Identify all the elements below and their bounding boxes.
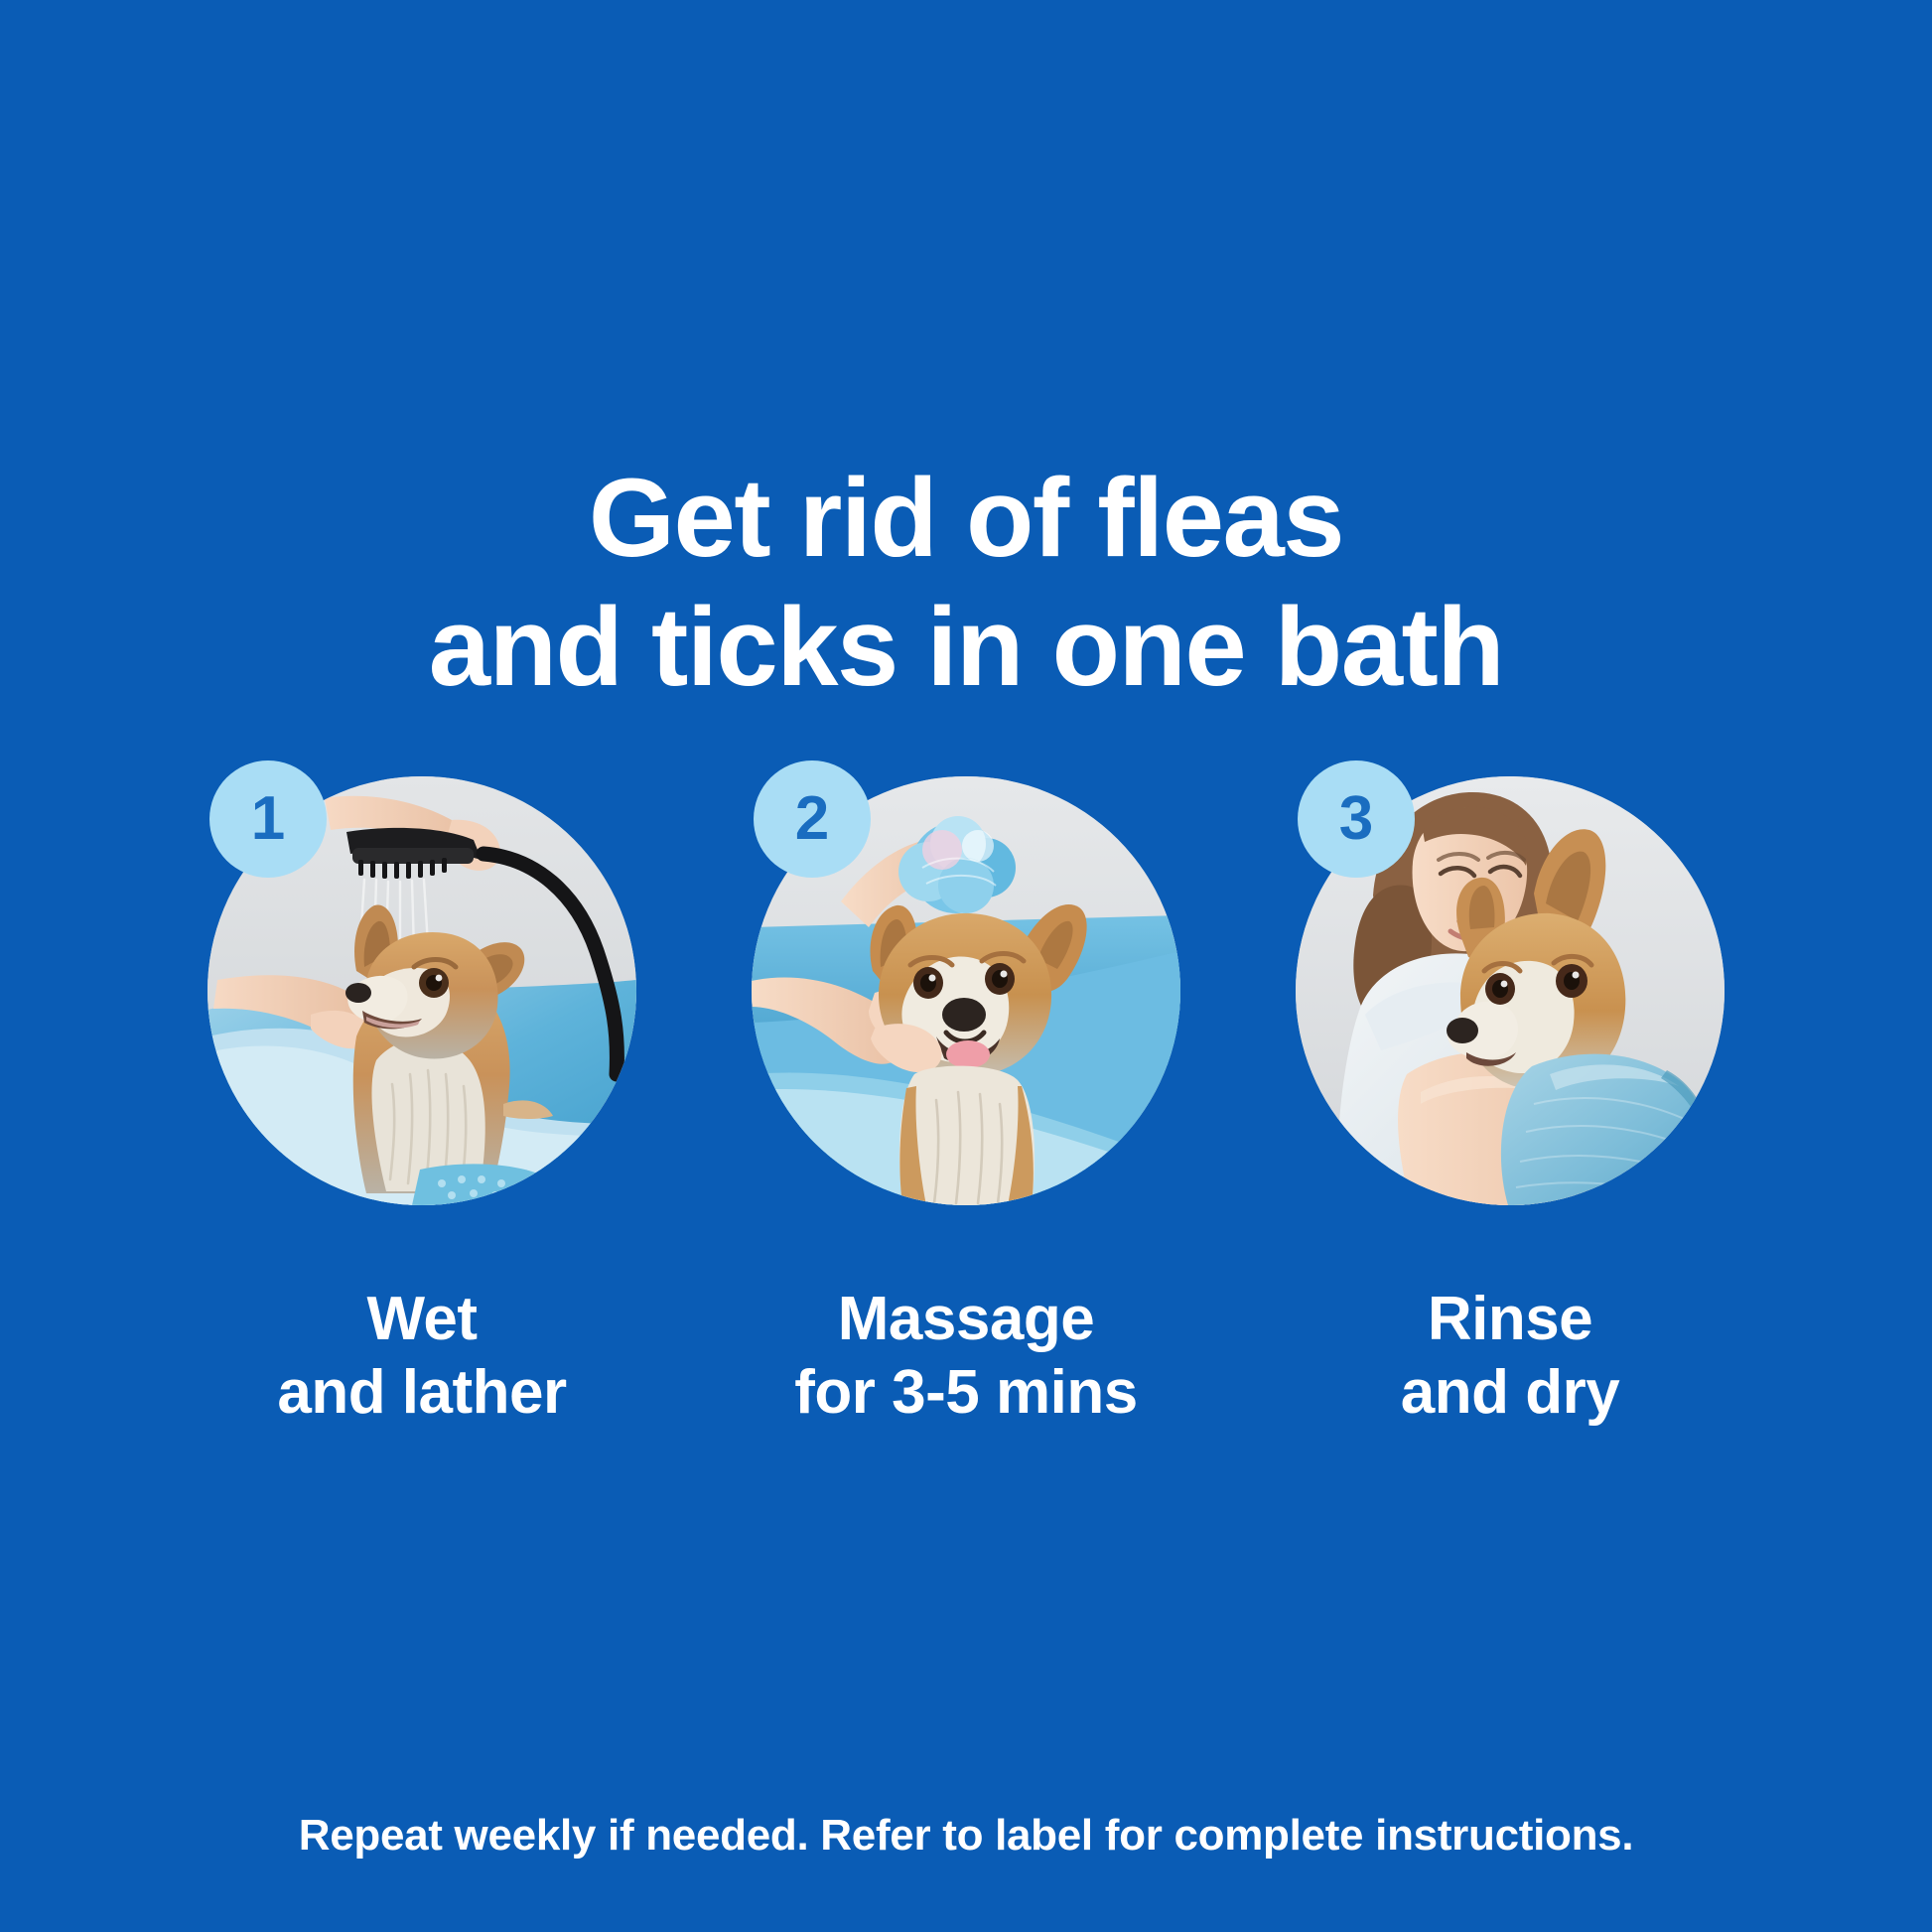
footnote-text: Repeat weekly if needed. Refer to label … [0,1811,1932,1861]
step-3-photo-wrap: 3 [1296,776,1725,1205]
step-2-photo-wrap: 2 [752,776,1180,1205]
step-1-photo-wrap: 1 [207,776,636,1205]
steps-row: 1 Wet and lather [0,776,1932,1431]
step-3: 3 Rinse and dry [1296,776,1725,1431]
step-3-caption: Rinse and dry [1401,1283,1619,1431]
step-1-caption: Wet and lather [277,1283,566,1431]
page-title: Get rid of fleas and ticks in one bath [0,454,1932,712]
step-3-number-badge: 3 [1298,760,1415,878]
step-2: 2 Massage for 3-5 mins [752,776,1180,1431]
poster-root: Get rid of fleas and ticks in one bath [0,0,1932,1932]
step-2-number-badge: 2 [754,760,871,878]
step-2-caption: Massage for 3-5 mins [794,1283,1137,1431]
step-1: 1 Wet and lather [207,776,636,1431]
step-1-number-badge: 1 [209,760,327,878]
